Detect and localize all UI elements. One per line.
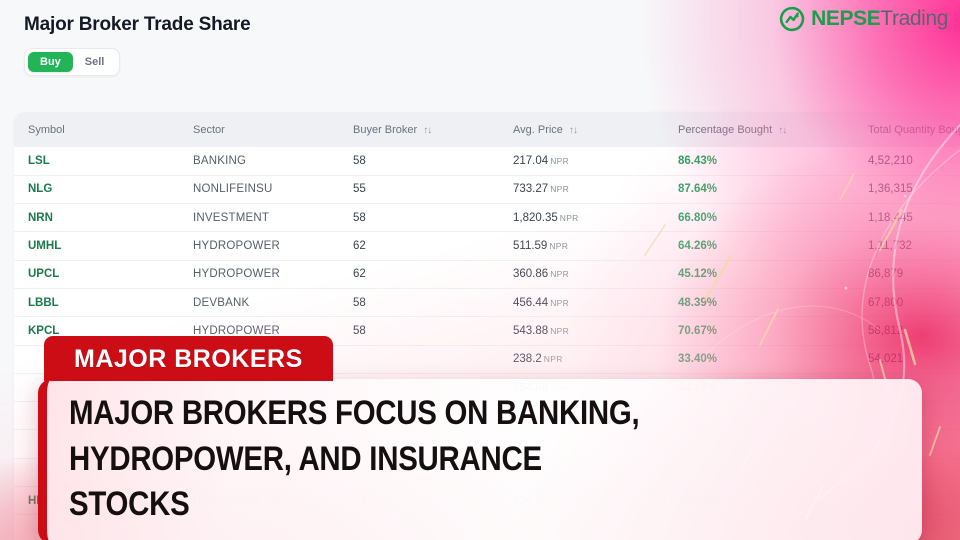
table-row[interactable]: LBBLDEVBANK58456.44NPR48.39%67,800 (14, 288, 960, 316)
table-row[interactable]: UMHLHYDROPOWER62511.59NPR64.26%1,11,732 (14, 232, 960, 260)
cell-avg-price: 733.27NPR (499, 175, 664, 203)
brand-logo-text: NEPSETrading (811, 7, 948, 31)
cell-buyer-broker: 58 (339, 288, 499, 316)
cell-percentage-bought: 86.43% (664, 147, 854, 175)
cell-percentage-bought: 87.64% (664, 175, 854, 203)
currency-suffix: NPR (550, 184, 569, 194)
brand-name-primary: NEPSE (811, 7, 880, 30)
sort-icon[interactable]: ↑↓ (778, 125, 786, 136)
column-header-percentage-bought[interactable]: Percentage Bought ↑↓ (664, 112, 854, 147)
currency-suffix: NPR (550, 269, 569, 279)
table-row[interactable]: NRNINVESTMENT581,820.35NPR66.80%1,18,445 (14, 204, 960, 232)
currency-suffix: NPR (549, 241, 568, 251)
kicker-badge: MAJOR BROKERS (44, 336, 333, 381)
column-header-total-quantity[interactable]: Total Quantity Boug (854, 112, 960, 147)
column-label-avg-price: Avg. Price (513, 124, 563, 136)
table-row[interactable]: LSLBANKING58217.04NPR86.43%4,52,210 (14, 147, 960, 175)
cell-total-quantity: 1,11,732 (854, 232, 960, 260)
currency-suffix: NPR (550, 326, 569, 336)
cell-sector: BANKING (179, 147, 339, 175)
cell-symbol: LBBL (14, 288, 179, 316)
table-header: Symbol Sector Buyer Broker ↑↓ Avg. Price… (14, 112, 960, 147)
currency-suffix: NPR (560, 213, 579, 223)
column-label-total-quantity: Total Quantity Boug (868, 124, 960, 136)
headline-overlay: MAJOR BROKERS MAJOR BROKERS FOCUS ON BAN… (38, 336, 922, 540)
buy-sell-toggle[interactable]: Buy Sell (24, 48, 120, 76)
cell-avg-price: 360.86NPR (499, 260, 664, 288)
cell-symbol: NLG (14, 175, 179, 203)
cell-total-quantity: 67,800 (854, 288, 960, 316)
column-header-avg-price[interactable]: Avg. Price ↑↓ (499, 112, 664, 147)
chart-circle-icon (779, 6, 805, 32)
cell-symbol: LSL (14, 147, 179, 175)
currency-suffix: NPR (550, 156, 569, 166)
column-label-symbol: Symbol (28, 124, 65, 136)
cell-percentage-bought: 48.39% (664, 288, 854, 316)
column-label-percentage-bought: Percentage Bought (678, 124, 772, 136)
cell-percentage-bought: 45.12% (664, 260, 854, 288)
brand-name-secondary: Trading (880, 7, 948, 30)
cell-total-quantity: 86,879 (854, 260, 960, 288)
cell-buyer-broker: 62 (339, 232, 499, 260)
column-header-symbol: Symbol (14, 112, 179, 147)
cell-avg-price: 1,820.35NPR (499, 204, 664, 232)
cell-sector: HYDROPOWER (179, 232, 339, 260)
column-header-buyer-broker[interactable]: Buyer Broker ↑↓ (339, 112, 499, 147)
table-header-row: Symbol Sector Buyer Broker ↑↓ Avg. Price… (14, 112, 960, 147)
headline-card: MAJOR BROKERS FOCUS ON BANKING, HYDROPOW… (38, 379, 922, 540)
column-label-sector: Sector (193, 124, 225, 136)
cell-sector: NONLIFEINSU (179, 175, 339, 203)
cell-percentage-bought: 66.80% (664, 204, 854, 232)
table-row[interactable]: UPCLHYDROPOWER62360.86NPR45.12%86,879 (14, 260, 960, 288)
cell-buyer-broker: 55 (339, 175, 499, 203)
cell-sector: HYDROPOWER (179, 260, 339, 288)
cell-percentage-bought: 64.26% (664, 232, 854, 260)
cell-total-quantity: 4,52,210 (854, 147, 960, 175)
cell-symbol: NRN (14, 204, 179, 232)
cell-avg-price: 511.59NPR (499, 232, 664, 260)
cell-symbol: UMHL (14, 232, 179, 260)
cell-total-quantity: 1,36,315 (854, 175, 960, 203)
headline-text: MAJOR BROKERS FOCUS ON BANKING, HYDROPOW… (69, 391, 784, 528)
buy-toggle-button[interactable]: Buy (28, 52, 73, 72)
column-label-buyer-broker: Buyer Broker (353, 124, 417, 136)
cell-sector: INVESTMENT (179, 204, 339, 232)
sort-icon[interactable]: ↑↓ (569, 125, 577, 136)
cell-buyer-broker: 58 (339, 147, 499, 175)
currency-suffix: NPR (550, 298, 569, 308)
cell-total-quantity: 1,18,445 (854, 204, 960, 232)
column-header-sector: Sector (179, 112, 339, 147)
sort-icon[interactable]: ↑↓ (423, 125, 431, 136)
table-row[interactable]: NLGNONLIFEINSU55733.27NPR87.64%1,36,315 (14, 175, 960, 203)
cell-buyer-broker: 58 (339, 204, 499, 232)
sell-toggle-button[interactable]: Sell (73, 52, 117, 72)
brand-logo[interactable]: NEPSETrading (779, 6, 948, 32)
cell-symbol: UPCL (14, 260, 179, 288)
cell-avg-price: 456.44NPR (499, 288, 664, 316)
cell-avg-price: 217.04NPR (499, 147, 664, 175)
cell-sector: DEVBANK (179, 288, 339, 316)
cell-buyer-broker: 62 (339, 260, 499, 288)
